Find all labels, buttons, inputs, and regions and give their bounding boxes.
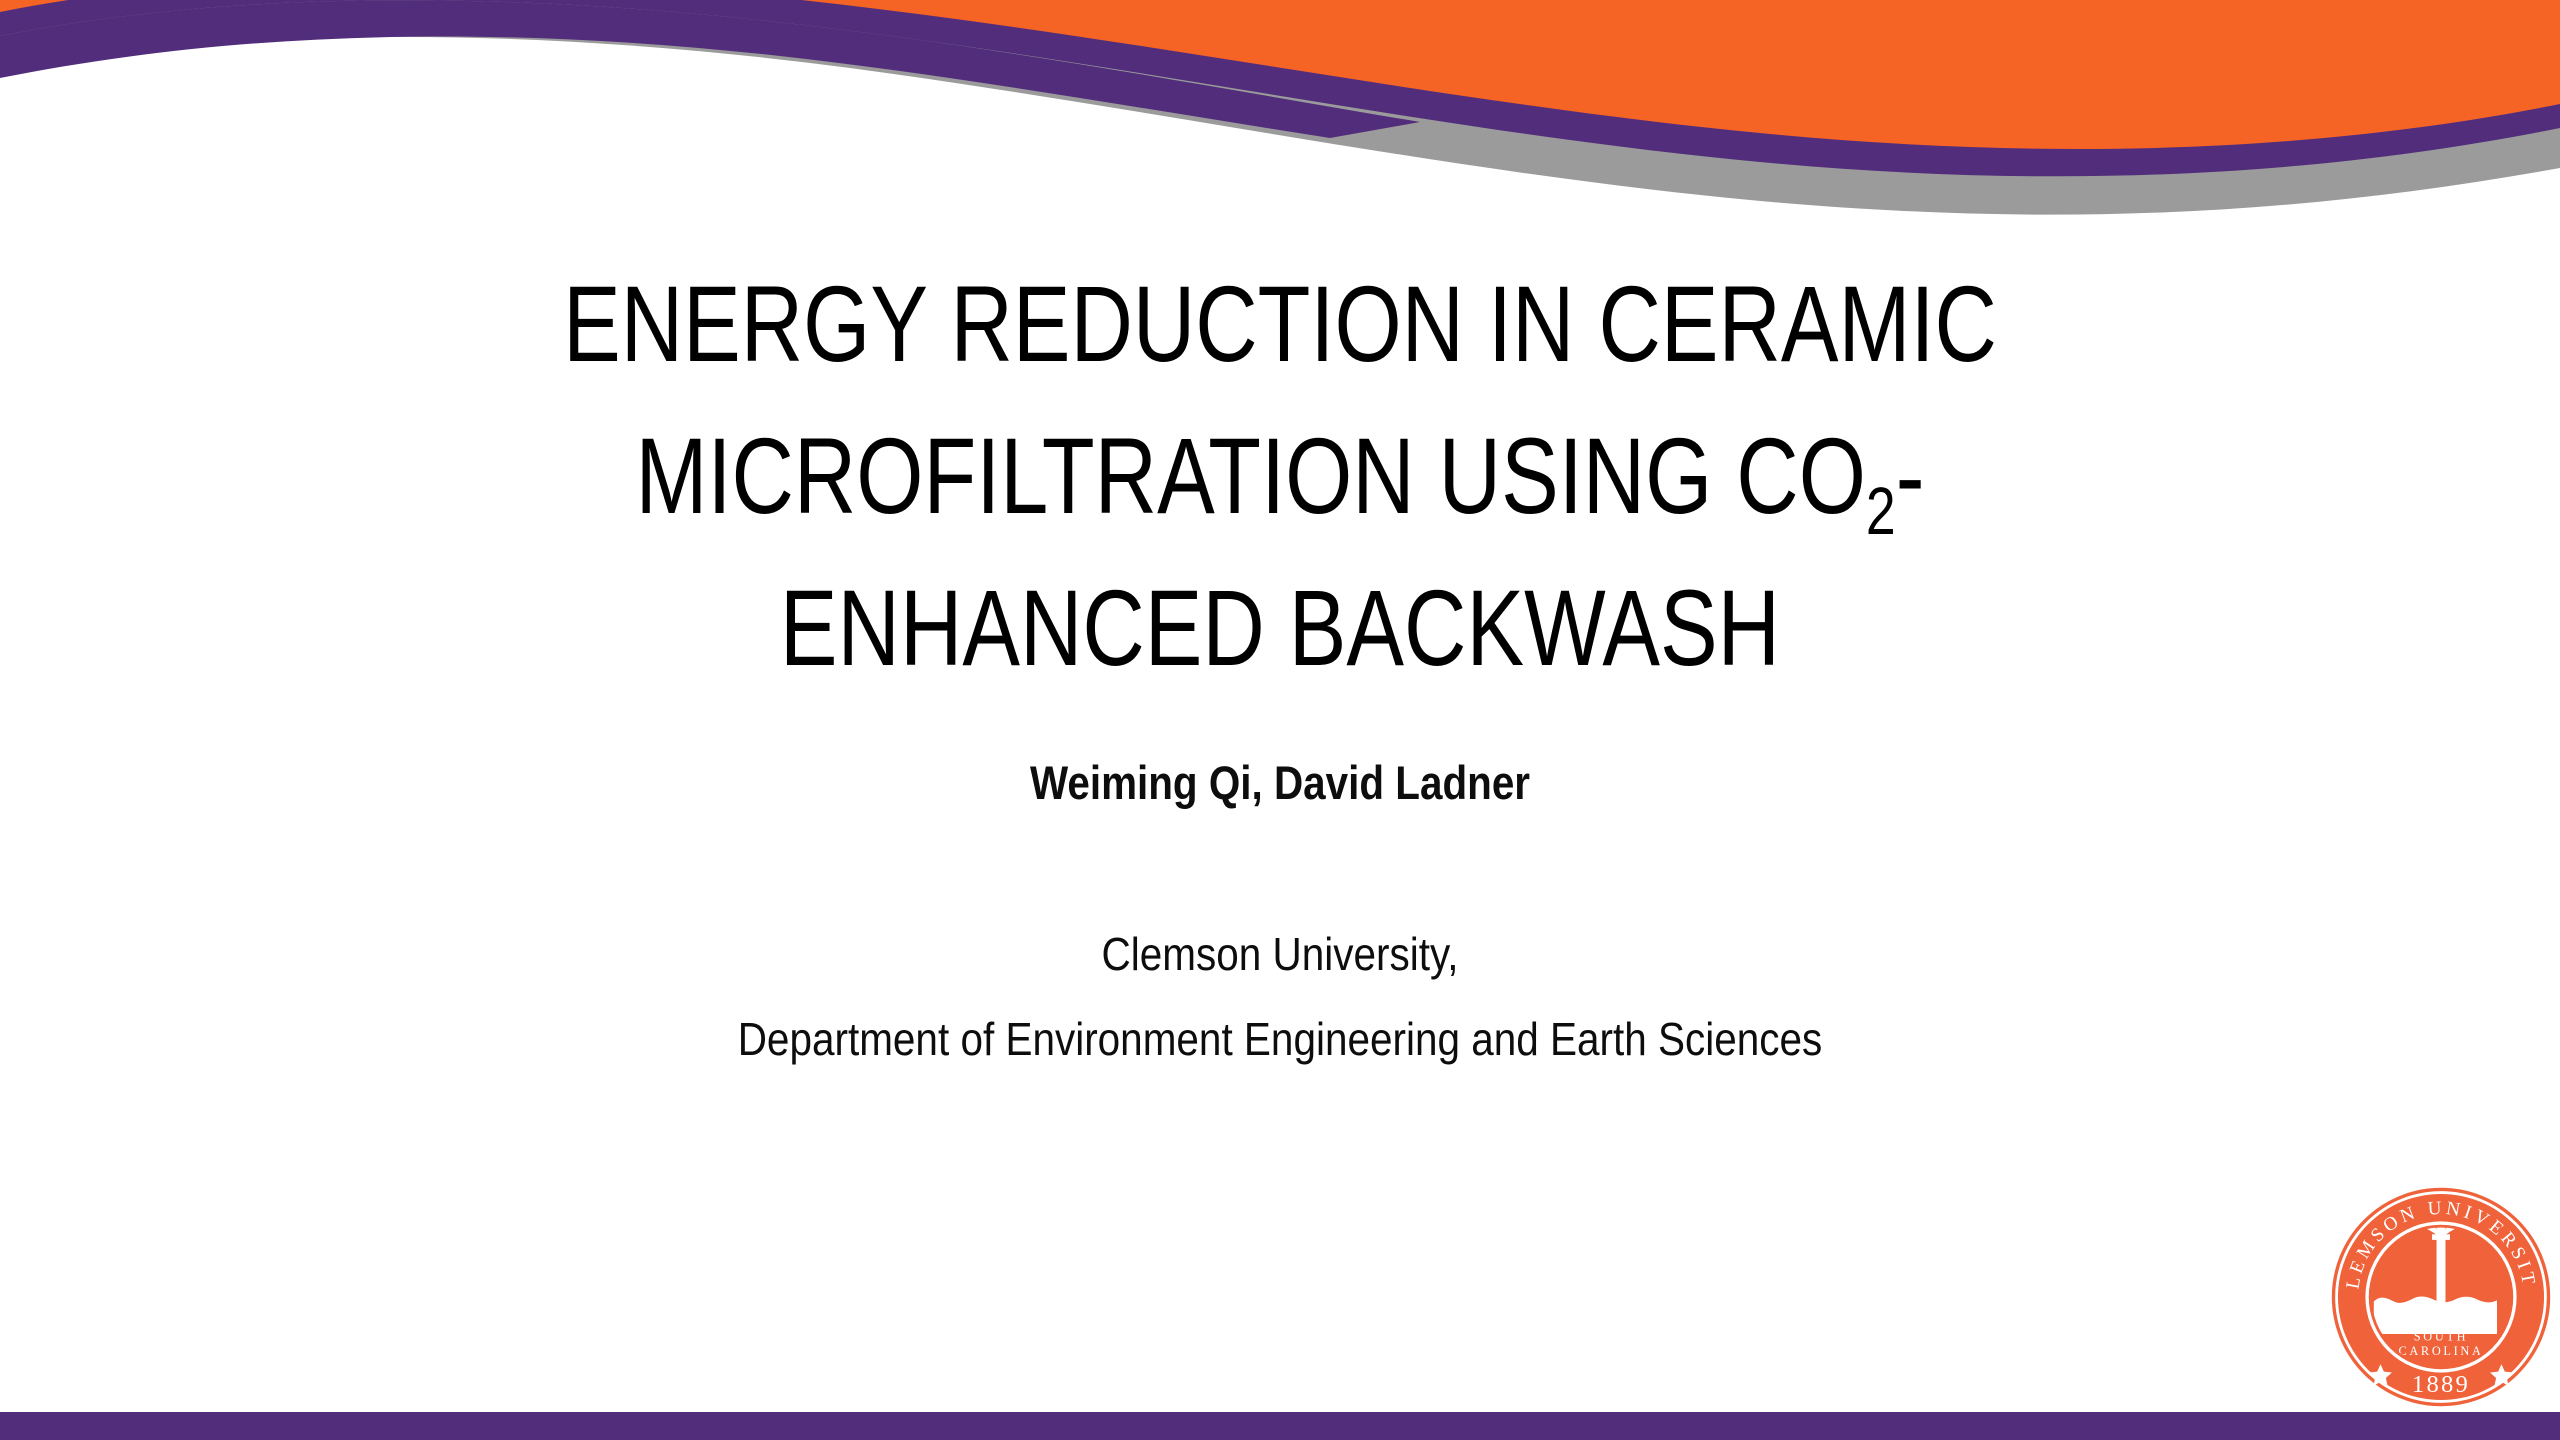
seal-base-3 [2424,1304,2458,1312]
seal-year: 1889 [2412,1371,2470,1398]
seal-state-line-1: SOUTH [2414,1330,2468,1344]
title-line-2-suffix: - [1896,415,1925,536]
title-line-1: ENERGY REDUCTION IN CERAMIC [440,248,2120,400]
affiliation: Clemson University, Department of Enviro… [280,912,2280,1082]
seal-state-line-2: CAROLINA [2398,1344,2483,1358]
title-subscript-2: 2 [1866,474,1896,549]
title-line-2-main: MICROFILTRATION USING CO [636,415,1866,536]
affiliation-university: Clemson University, [400,912,2160,997]
slide-title: ENERGY REDUCTION IN CERAMIC MICROFILTRAT… [230,248,2330,704]
seal-column [2437,1239,2446,1304]
footer-accent-bar [0,1412,2560,1440]
affiliation-department: Department of Environment Engineering an… [400,997,2160,1082]
title-line-3: ENHANCED BACKWASH [440,552,2120,704]
seal-base-2 [2417,1312,2464,1320]
clemson-university-seal-logo: CLEMSON UNIVERSITY [2329,1185,2553,1409]
header-wave-decoration [0,0,2560,260]
title-line-2: MICROFILTRATION USING CO2- [440,400,2120,552]
seal-base-1 [2412,1319,2470,1327]
slide-canvas: ENERGY REDUCTION IN CERAMIC MICROFILTRAT… [0,0,2560,1440]
seal-svg: CLEMSON UNIVERSITY [2329,1185,2553,1409]
author-names: Weiming Qi, David Ladner [506,755,2054,810]
